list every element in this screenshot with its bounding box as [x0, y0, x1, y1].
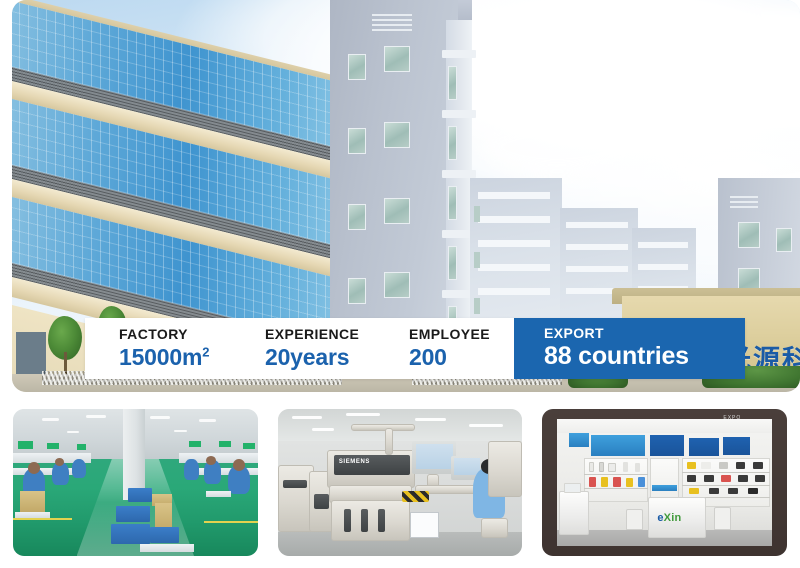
- monitor-screen: [416, 444, 453, 469]
- carton-box: [20, 491, 44, 512]
- stat-value-export: 88 countries: [544, 343, 745, 371]
- window: [348, 204, 366, 230]
- stat-value-factory: 15000m2: [119, 345, 231, 370]
- blue-crate: [128, 488, 152, 501]
- stat-experience: EXPERIENCE 20years: [231, 318, 375, 379]
- display-poster: [591, 435, 645, 456]
- worker: [184, 459, 199, 480]
- info-panel: [650, 458, 679, 502]
- rear-shelving: [488, 441, 522, 497]
- display-poster: [723, 437, 750, 455]
- stat-factory: FACTORY 15000m2: [85, 318, 231, 379]
- window: [384, 272, 410, 298]
- blue-crate: [150, 527, 179, 543]
- pallet: [140, 544, 194, 551]
- info-banner: [652, 485, 676, 491]
- stool: [206, 491, 230, 497]
- booth-logo-main: Xin: [664, 512, 682, 524]
- worker-head: [28, 462, 40, 474]
- booth-logo: eXin: [657, 512, 681, 524]
- stat-value-experience: 20years: [265, 345, 375, 370]
- window: [348, 54, 366, 80]
- window: [384, 46, 410, 72]
- stat-export: EXPORT 88 countries: [514, 318, 745, 379]
- document-holder: [410, 512, 439, 538]
- hall-signage: EXPO: [723, 415, 741, 421]
- display-poster: [569, 433, 589, 448]
- stat-label-factory: FACTORY: [119, 327, 231, 342]
- side-counter: [559, 491, 588, 535]
- chair: [626, 509, 643, 530]
- display-poster: [650, 435, 684, 456]
- doorway: [16, 332, 46, 376]
- thumbnail-exhibition-booth[interactable]: EXPO: [542, 409, 787, 556]
- control-monitor: [412, 441, 456, 473]
- display-poster: [689, 438, 718, 456]
- stat-value-employee: 200: [409, 345, 514, 370]
- support-column: [123, 409, 145, 500]
- window: [776, 228, 792, 252]
- cloud: [482, 120, 632, 174]
- window: [348, 278, 366, 304]
- stool: [481, 518, 508, 539]
- window: [448, 66, 457, 100]
- window: [448, 186, 457, 220]
- thumbnail-row: SIEMENS: [13, 409, 787, 556]
- hazard-tape: [402, 491, 429, 501]
- window: [738, 222, 760, 248]
- stat-label-employee: EMPLOYEE: [409, 327, 514, 342]
- stat-label-export: EXPORT: [544, 326, 745, 341]
- chair: [714, 507, 731, 529]
- stat-label-experience: EXPERIENCE: [265, 327, 375, 342]
- thumbnail-smt-machine[interactable]: SIEMENS: [278, 409, 523, 556]
- stat-employee: EMPLOYEE 200: [375, 318, 514, 379]
- window: [384, 122, 410, 148]
- machine-brand-label: SIEMENS: [339, 459, 370, 465]
- window: [348, 128, 366, 154]
- hero-factory-image: 光源科技 FACTORY 15000m2 EXPERIENCE 20years …: [12, 0, 800, 392]
- blue-crate: [111, 524, 150, 545]
- thumbnail-assembly-line[interactable]: [13, 409, 258, 556]
- gantry-post: [385, 428, 392, 454]
- worker: [72, 459, 87, 478]
- overhead-gantry: [351, 424, 415, 431]
- booth-header-panel: [557, 419, 772, 432]
- worker-head: [206, 456, 216, 465]
- stat-value-factory-superscript: 2: [202, 344, 209, 359]
- factory-profile-banner: 光源科技 FACTORY 15000m2 EXPERIENCE 20years …: [0, 0, 800, 568]
- stats-bar: FACTORY 15000m2 EXPERIENCE 20years EMPLO…: [85, 318, 745, 379]
- blue-crate: [116, 506, 150, 522]
- window: [448, 126, 457, 160]
- carton-box: [155, 503, 172, 529]
- stat-value-factory-number: 15000m: [119, 344, 202, 370]
- window: [448, 246, 457, 280]
- window: [384, 198, 410, 224]
- worker-head: [233, 459, 245, 471]
